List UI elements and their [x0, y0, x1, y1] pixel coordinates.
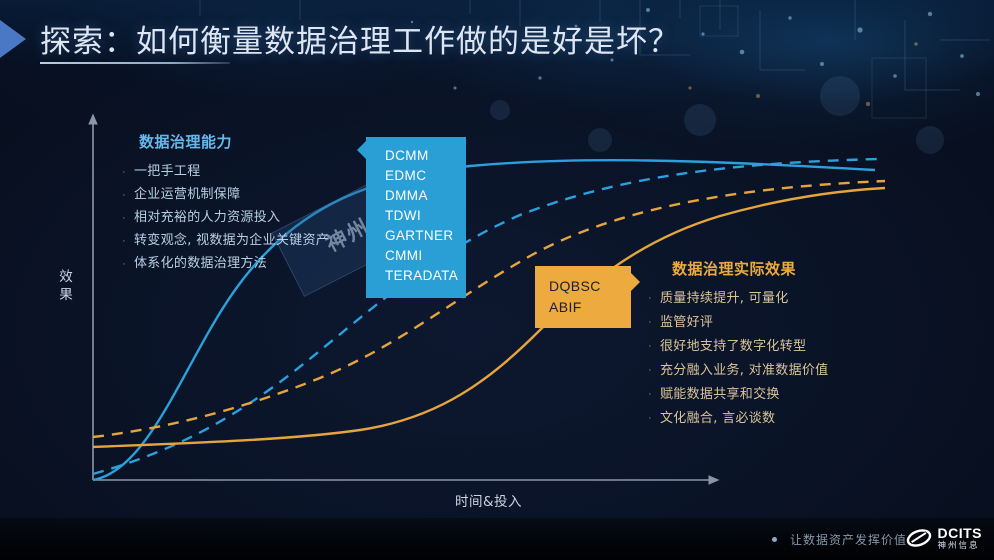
standard-item: EDMC [385, 166, 466, 186]
capability-bullet-label: 一把手工程 [134, 164, 201, 180]
effect-bullet-label: 赋能数据共享和交换 [660, 386, 780, 403]
callout-notch-icon [631, 273, 640, 291]
capability-panel: 数据治理能力 · 一把手工程 · 企业运营机制保障 · 相对充裕的人力资源投入 … [122, 131, 392, 279]
bullet-dot-icon: · [122, 256, 134, 272]
capability-bullet-label: 企业运营机制保障 [134, 187, 240, 203]
bullet-dot-icon: · [122, 164, 134, 180]
bullet-dot-icon: · [648, 386, 660, 402]
effect-bullet-label: 文化融合, 言必谈数 [660, 410, 775, 427]
standard-item: GARTNER [385, 226, 466, 246]
bullet-dot-icon: · [122, 233, 134, 249]
effect-bullet: · 赋能数据共享和交换 [648, 386, 878, 403]
footer-tagline: 让数据资产发挥价值 [790, 531, 907, 548]
metric-item: ABIF [549, 297, 631, 318]
logo-text-block: DCITS 神州信息 [938, 526, 983, 551]
dcits-swoosh-icon [906, 527, 932, 549]
effect-bullet: · 监管好评 [648, 314, 878, 331]
effect-panel: 数据治理实际效果 · 质量持续提升, 可量化 · 监管好评 · 很好地支持了数字… [648, 258, 878, 434]
bullet-dot-icon: · [648, 290, 660, 306]
standards-callout-blue: DCMM EDMC DMMA TDWI GARTNER CMMI TERADAT… [366, 137, 466, 298]
effect-bullet: · 很好地支持了数字化转型 [648, 338, 878, 355]
effect-bullet-label: 监管好评 [660, 314, 713, 331]
bullet-dot-icon: · [648, 410, 660, 426]
capability-bullet: · 一把手工程 [122, 164, 392, 180]
bullet-dot-icon: · [648, 314, 660, 330]
effect-bullet: · 文化融合, 言必谈数 [648, 410, 878, 427]
capability-bullet-label: 体系化的数据治理方法 [134, 256, 267, 272]
capability-bullet: · 体系化的数据治理方法 [122, 256, 392, 272]
logo-name-cn: 神州信息 [938, 542, 983, 551]
bullet-dot-icon: · [122, 210, 134, 226]
capability-bullet: · 相对充裕的人力资源投入 [122, 210, 392, 226]
standard-item: DMMA [385, 186, 466, 206]
effect-bullet: · 充分融入业务, 对准数据价值 [648, 362, 878, 379]
metric-item: DQBSC [549, 276, 631, 297]
effect-bullet-label: 充分融入业务, 对准数据价值 [660, 362, 828, 379]
effect-bullet-label: 质量持续提升, 可量化 [660, 290, 789, 307]
metrics-callout-orange: DQBSC ABIF [535, 266, 631, 328]
y-axis-label: 效果 [57, 268, 75, 304]
effect-heading: 数据治理实际效果 [672, 258, 878, 279]
capability-bullet-label: 转变观念, 视数据为企业关键资产 [134, 233, 329, 249]
standard-item: CMMI [385, 246, 466, 266]
capability-heading: 数据治理能力 [139, 131, 392, 152]
capability-bullet: · 企业运营机制保障 [122, 187, 392, 203]
x-axis-label: 时间&投入 [455, 490, 522, 510]
company-logo: DCITS 神州信息 [906, 526, 983, 551]
bullet-dot-icon: · [648, 362, 660, 378]
capability-bullet-label: 相对充裕的人力资源投入 [134, 210, 280, 226]
effect-bullet: · 质量持续提升, 可量化 [648, 290, 878, 307]
footer-bullet-icon [772, 537, 777, 542]
bullet-dot-icon: · [122, 187, 134, 203]
effect-bullet-label: 很好地支持了数字化转型 [660, 338, 806, 355]
standard-item: TDWI [385, 206, 466, 226]
slide-canvas: 探索：如何衡量数据治理工作做的是好是坏？ 神州信息 酷方志 数据治理能力 · 一… [0, 0, 994, 560]
bullet-dot-icon: · [648, 338, 660, 354]
standard-item: TERADATA [385, 266, 466, 286]
standard-item: DCMM [385, 146, 466, 166]
capability-bullet: · 转变观念, 视数据为企业关键资产 [122, 233, 392, 249]
logo-name-en: DCITS [938, 526, 983, 540]
callout-notch-icon [357, 141, 366, 159]
